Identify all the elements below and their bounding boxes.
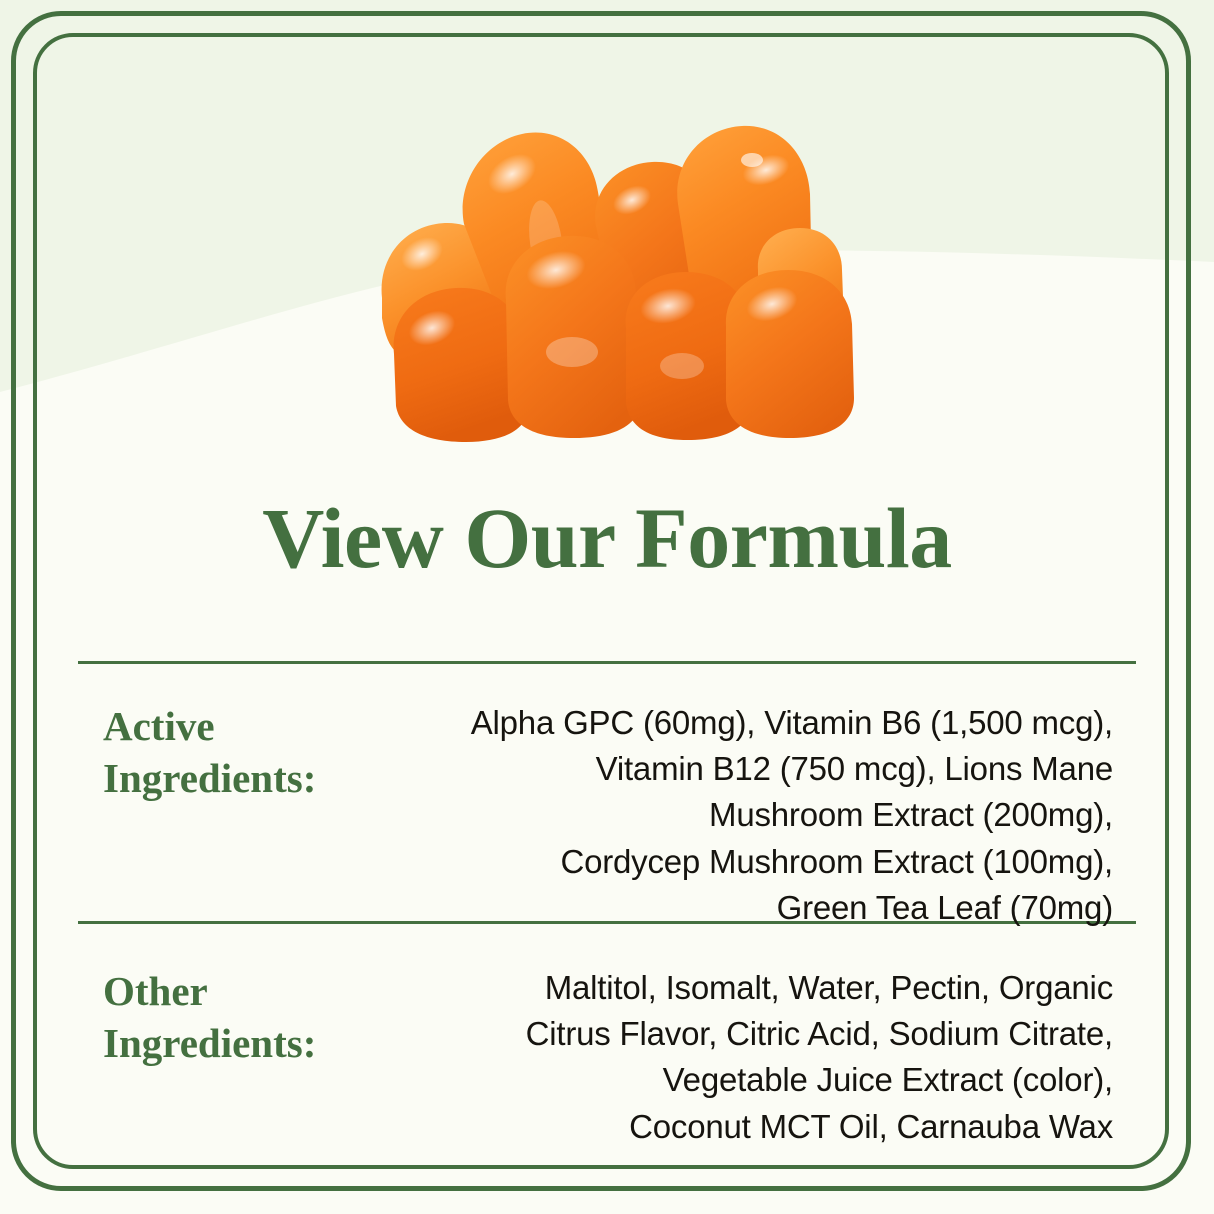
other-ingredients-line-3: Vegetable Juice Extract (color),: [378, 1057, 1113, 1103]
active-ingredients-label-line-1: Active: [103, 700, 378, 752]
active-ingredients-line-5: Green Tea Leaf (70mg): [378, 885, 1113, 931]
other-ingredients-label-line-1: Other: [103, 965, 378, 1017]
active-ingredients-line-1: Alpha GPC (60mg), Vitamin B6 (1,500 mcg)…: [378, 700, 1113, 746]
active-ingredients-label: Active Ingredients:: [78, 700, 378, 805]
divider-top: [78, 661, 1136, 664]
active-ingredients-line-3: Mushroom Extract (200mg),: [378, 792, 1113, 838]
orange-gummies-pile-image: [360, 112, 860, 442]
active-ingredients-label-line-2: Ingredients:: [103, 752, 378, 804]
page-title: View Our Formula: [0, 495, 1214, 581]
gummy-front-mid-left: [506, 236, 641, 438]
active-ingredients-row: Active Ingredients: Alpha GPC (60mg), Vi…: [78, 700, 1136, 931]
formula-card: View Our Formula Active Ingredients: Alp…: [0, 0, 1214, 1214]
other-ingredients-value: Maltitol, Isomalt, Water, Pectin, Organi…: [378, 965, 1136, 1150]
other-ingredients-label-line-2: Ingredients:: [103, 1017, 378, 1069]
other-ingredients-line-2: Citrus Flavor, Citric Acid, Sodium Citra…: [378, 1011, 1113, 1057]
other-ingredients-row: Other Ingredients: Maltitol, Isomalt, Wa…: [78, 965, 1136, 1150]
active-ingredients-line-4: Cordycep Mushroom Extract (100mg),: [378, 839, 1113, 885]
other-ingredients-label: Other Ingredients:: [78, 965, 378, 1070]
other-ingredients-line-1: Maltitol, Isomalt, Water, Pectin, Organi…: [378, 965, 1113, 1011]
active-ingredients-line-2: Vitamin B12 (750 mcg), Lions Mane: [378, 746, 1113, 792]
active-ingredients-value: Alpha GPC (60mg), Vitamin B6 (1,500 mcg)…: [378, 700, 1136, 931]
gummy-front-right: [726, 270, 854, 438]
other-ingredients-line-4: Coconut MCT Oil, Carnauba Wax: [378, 1104, 1113, 1150]
